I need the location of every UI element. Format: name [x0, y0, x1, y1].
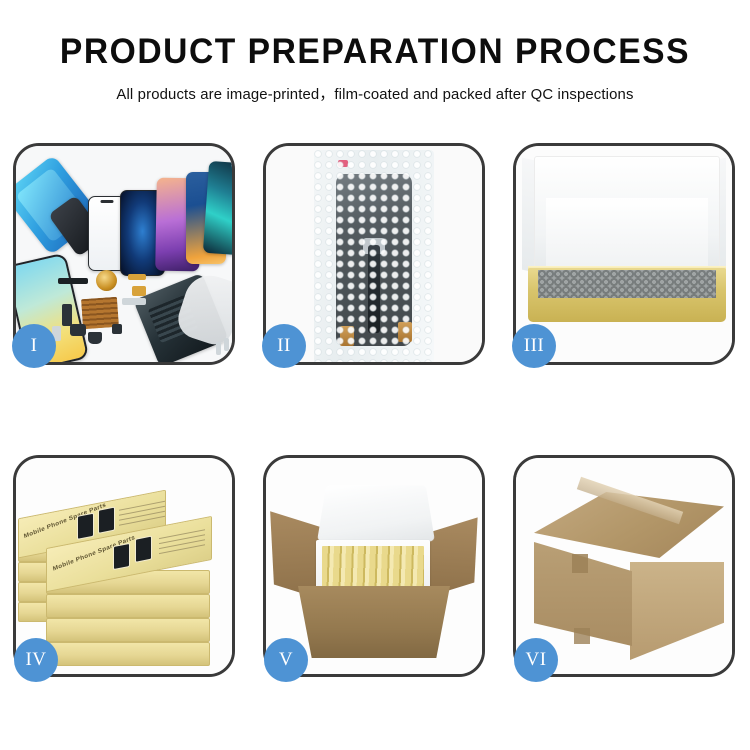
product-preparation-infographic: PRODUCT PREPARATION PROCESS All products… — [0, 0, 750, 750]
carton-side-face — [630, 562, 724, 660]
process-step-3[interactable]: III — [513, 143, 735, 365]
teal-swirl-phone — [203, 161, 232, 255]
flex-cable-part-b — [132, 286, 146, 296]
process-step-6[interactable]: VI — [513, 455, 735, 677]
page-title: PRODUCT PREPARATION PROCESS — [15, 34, 735, 71]
page-subtitle: All products are image-printed，film-coat… — [8, 82, 743, 104]
process-step-1[interactable]: I — [13, 143, 235, 365]
ribbon-cable-part — [122, 298, 146, 305]
speaker-mesh-part — [58, 278, 88, 284]
stack-box-r4 — [46, 642, 210, 666]
packed-yellow-boxes — [322, 546, 424, 590]
step-2-badge: II — [262, 324, 306, 368]
step-4-badge: IV — [14, 638, 58, 682]
step-1-badge: I — [12, 324, 56, 368]
taptic-engine-part — [88, 332, 102, 344]
process-step-grid: I II — [13, 143, 737, 677]
bubble-texture — [314, 150, 434, 362]
box-screen-swatch-l2 — [98, 507, 115, 534]
box-screen-swatch-l1 — [77, 513, 94, 540]
step-5-badge: V — [264, 638, 308, 682]
step-3-badge: III — [512, 324, 556, 368]
box-screen-swatch-r1 — [113, 543, 130, 570]
step-6-badge: VI — [514, 638, 558, 682]
small-connector-part — [62, 304, 72, 326]
stack-box-r2 — [46, 594, 210, 618]
process-step-5[interactable]: V — [263, 455, 485, 677]
box-screen-swatch-r2 — [135, 536, 152, 563]
header: PRODUCT PREPARATION PROCESS All products… — [0, 0, 750, 104]
stack-box-r3 — [46, 618, 210, 642]
foam-box-lid — [317, 485, 435, 541]
flex-cable-part-a — [128, 274, 146, 280]
outer-carton-body — [298, 586, 450, 658]
camera-module-part — [70, 324, 86, 336]
vibrator-part — [112, 324, 122, 334]
carton-edge-tab-top — [572, 554, 588, 573]
copper-coil-part — [96, 270, 117, 291]
screw-part-b — [224, 338, 229, 351]
white-foam-sheet — [546, 198, 708, 270]
carton-edge-tab-bottom — [574, 628, 590, 644]
process-step-4[interactable]: Mobile Phone Spare Parts Mobile Phone Sp… — [13, 455, 235, 677]
bubble-wrap-bag — [314, 150, 434, 362]
grey-bubble-padding — [538, 270, 716, 298]
process-step-2[interactable]: II — [263, 143, 485, 365]
screw-part-a — [216, 342, 221, 355]
